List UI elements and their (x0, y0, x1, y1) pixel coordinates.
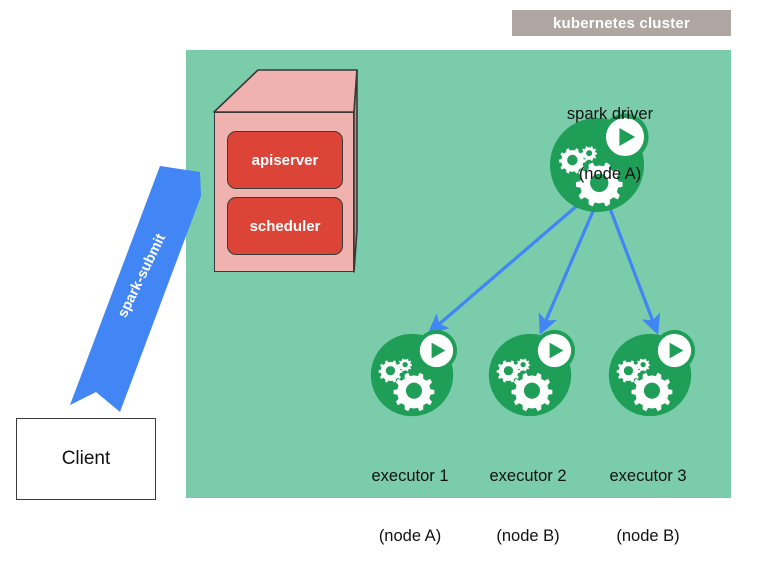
executor-3-node: (node B) (578, 526, 718, 546)
executor-3-icon (609, 330, 695, 416)
spark-driver-label: spark driver (node A) (520, 64, 700, 224)
client-label: Client (62, 448, 111, 470)
spark-submit-arrow (70, 166, 201, 412)
executor-3-name: executor 3 (578, 466, 718, 486)
executor-3-label: executor 3 (node B) (578, 426, 718, 586)
scheduler-component[interactable]: scheduler (227, 197, 343, 255)
control-plane-front-face: apiserver scheduler (214, 112, 354, 272)
diagram-canvas: kubernetes cluster (0, 0, 761, 516)
executor-2-icon (489, 330, 575, 416)
executor-2-node: (node B) (458, 526, 598, 546)
executor-1-icon (371, 330, 457, 416)
apiserver-label: apiserver (252, 152, 319, 169)
spark-driver-node: (node A) (520, 164, 700, 184)
executor-2-label: executor 2 (node B) (458, 426, 598, 586)
spark-driver-name: spark driver (520, 104, 700, 124)
scheduler-label: scheduler (250, 218, 321, 235)
apiserver-component[interactable]: apiserver (227, 131, 343, 189)
client-box[interactable]: Client (16, 418, 156, 500)
executor-2-name: executor 2 (458, 466, 598, 486)
